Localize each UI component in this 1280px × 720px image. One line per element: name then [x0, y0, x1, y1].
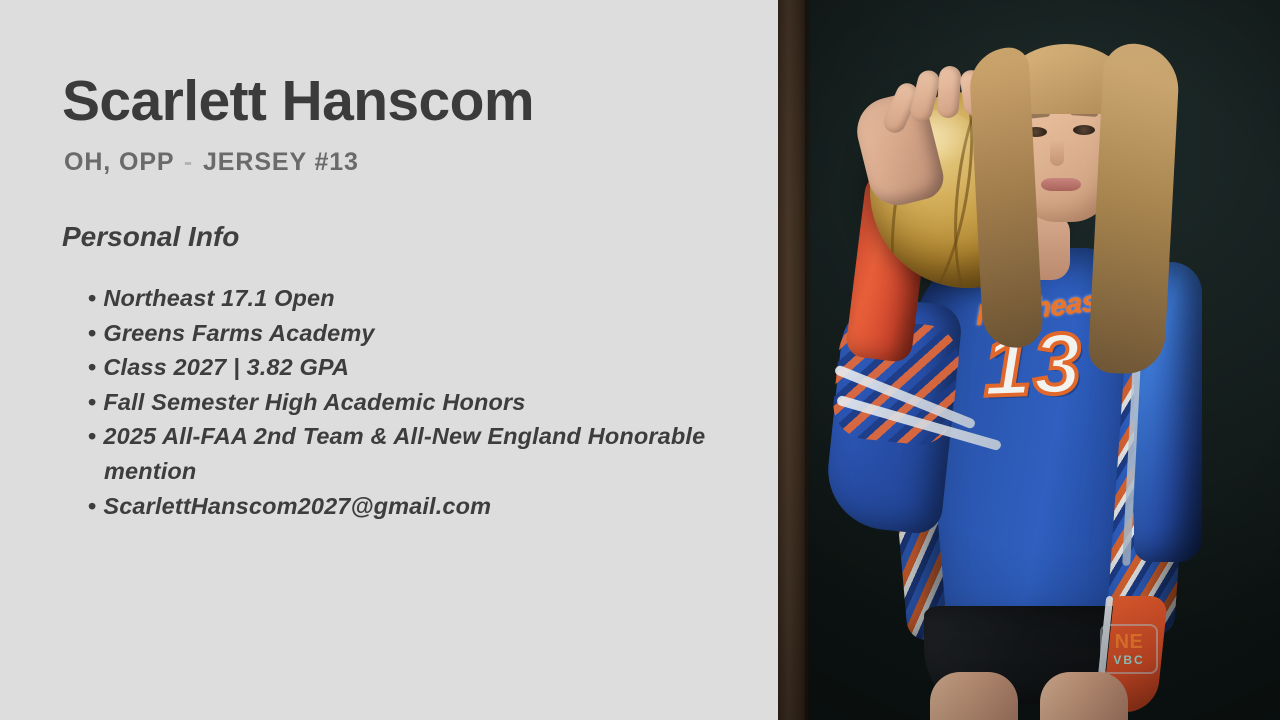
positions-label: OH, OPP: [64, 148, 174, 176]
eye-right: [1073, 125, 1095, 135]
leg-left: [930, 672, 1018, 720]
mouth: [1041, 178, 1081, 191]
athlete-photo: Northeast 13: [778, 0, 1280, 720]
info-panel: Scarlett Hanscom OH, OPP - JERSEY #13 Pe…: [0, 0, 778, 720]
athlete-figure: Northeast 13: [778, 0, 1280, 720]
list-item: Greens Farms Academy: [88, 316, 748, 351]
list-item: 2025 All-FAA 2nd Team & All-New England …: [88, 419, 748, 488]
nose: [1050, 140, 1064, 166]
leg-right: [1040, 672, 1128, 720]
separator-dash: -: [182, 148, 195, 176]
jersey-number-label: JERSEY #13: [203, 148, 359, 176]
list-item: Fall Semester High Academic Honors: [88, 385, 748, 420]
personal-info-list: Northeast 17.1 Open Greens Farms Academy…: [88, 281, 748, 523]
list-item: Northeast 17.1 Open: [88, 281, 748, 316]
position-and-jersey-line: OH, OPP - JERSEY #13: [64, 148, 359, 177]
club-logo-ne-text: NE: [1115, 632, 1144, 652]
list-item: Class 2027 | 3.82 GPA: [88, 350, 748, 385]
section-heading-personal-info: Personal Info: [62, 221, 239, 253]
finger: [936, 65, 962, 118]
athlete-profile-slide: Scarlett Hanscom OH, OPP - JERSEY #13 Pe…: [0, 0, 1280, 720]
club-logo-ne-vbc: NE VBC: [1100, 624, 1158, 674]
club-logo-vbc-text: VBC: [1113, 654, 1144, 666]
list-item-email: ScarlettHanscom2027@gmail.com: [88, 489, 748, 524]
page-title: Scarlett Hanscom: [62, 72, 534, 132]
